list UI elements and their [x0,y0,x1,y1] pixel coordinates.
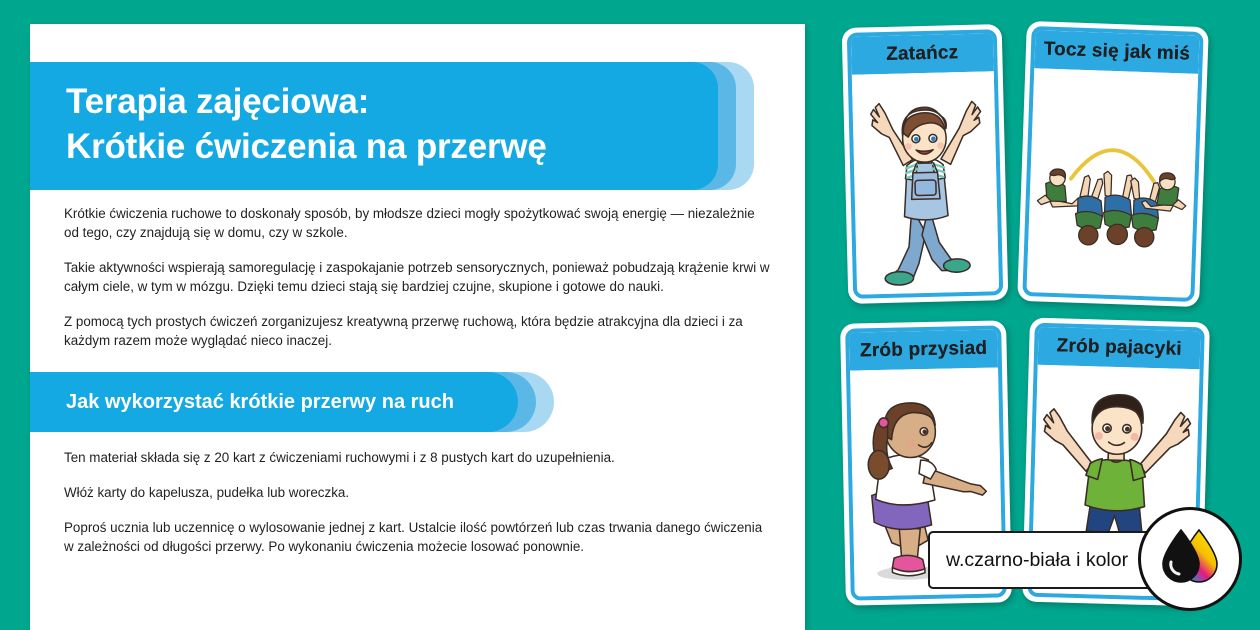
instruction-paragraph-3: Poproś ucznia lub uczennicę o wylosowani… [64,518,770,556]
card-title: Zrób przysiad [860,338,988,363]
intro-text-block: Krótkie ćwiczenia ruchowe to doskonały s… [64,204,770,350]
resource-page-preview: Terapia zajęciowa: Krótkie ćwiczenia na … [30,24,805,630]
card-frame: Zatańcz [847,29,1003,299]
instructions-text-block: Ten materiał składa się z 20 kart z ćwic… [64,448,770,556]
card-title: Zatańcz [886,42,959,66]
ink-drops-icon [1138,507,1242,611]
card-header: Tocz się jak miś [1034,30,1199,74]
card-title: Tocz się jak miś [1043,39,1190,66]
dancing-boy-illustration [852,71,999,294]
instruction-paragraph-2: Włóż karty do kapelusza, pudełka lub wor… [64,483,770,502]
page-title: Terapia zajęciowa: Krótkie ćwiczenia na … [66,80,547,170]
card-frame: Tocz się jak miś [1022,26,1203,302]
title-banner: Terapia zajęciowa: Krótkie ćwiczenia na … [30,62,770,190]
format-badge-label: w.czarno-biała i kolor [946,549,1128,572]
instruction-paragraph-1: Ten materiał składa się z 20 kart z ćwic… [64,448,770,467]
section-heading: Jak wykorzystać krótkie przerwy na ruch [66,372,454,432]
exercise-card-roll: Tocz się jak miś [1017,21,1209,307]
promo-thumbnail: Terapia zajęciowa: Krótkie ćwiczenia na … [0,0,1260,630]
rolling-children-illustration [1026,68,1198,298]
intro-paragraph-2: Takie aktywności wspierają samoregulację… [64,258,770,296]
exercise-card-dance: Zatańcz [842,24,1009,304]
card-title: Zrób pajacyki [1056,335,1182,360]
section-heading-banner: Jak wykorzystać krótkie przerwy na ruch [30,372,570,432]
card-header: Zrób przysiad [849,329,998,370]
card-header: Zatańcz [851,33,994,74]
card-header: Zrób pajacyki [1038,327,1201,370]
intro-paragraph-3: Z pomocą tych prostych ćwiczeń zorganizu… [64,312,770,350]
intro-paragraph-1: Krótkie ćwiczenia ruchowe to doskonały s… [64,204,770,242]
